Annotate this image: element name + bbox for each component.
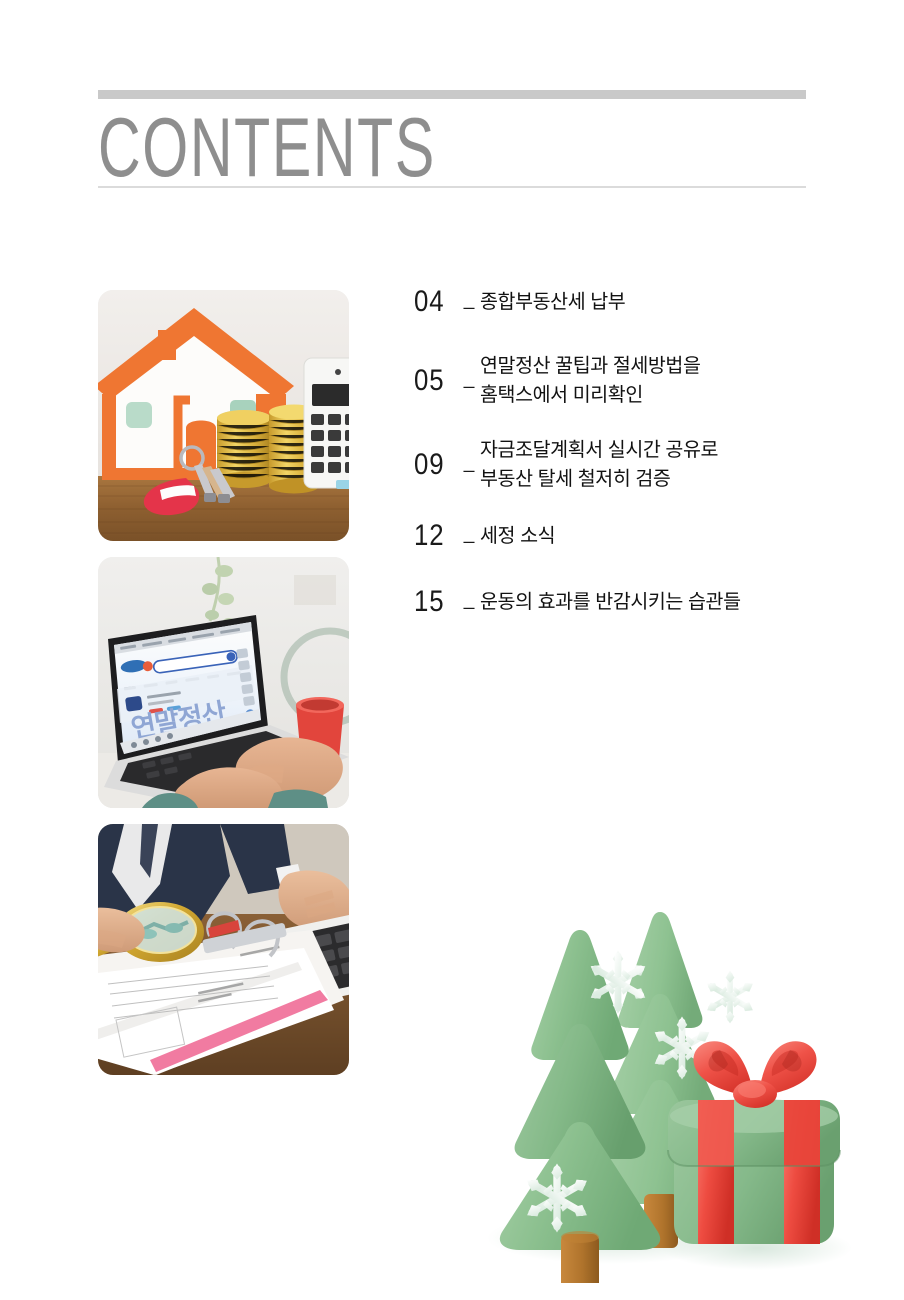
toc-separator: _ bbox=[458, 369, 480, 394]
toc-page-number: 15 bbox=[414, 586, 452, 618]
toc-page-number: 12 bbox=[414, 520, 452, 552]
toc-separator: _ bbox=[458, 524, 480, 549]
toc-separator: _ bbox=[458, 290, 480, 315]
header-rule-bottom bbox=[98, 186, 806, 188]
table-of-contents: 04 _ 종합부동산세 납부 05 _ 연말정산 꿀팁과 절세방법을 홈택스에서… bbox=[414, 286, 874, 652]
header-rule-top bbox=[98, 90, 806, 99]
thumbnail-laptop-year-end-tax[interactable]: 연말정산 bbox=[98, 557, 349, 808]
toc-page-number: 09 bbox=[414, 449, 452, 481]
toc-entry[interactable]: 04 _ 종합부동산세 납부 bbox=[414, 286, 874, 318]
toc-separator: _ bbox=[458, 590, 480, 615]
toc-entry[interactable]: 12 _ 세정 소식 bbox=[414, 520, 874, 552]
toc-page-number: 05 bbox=[414, 365, 452, 397]
toc-entry-title: 종합부동산세 납부 bbox=[480, 288, 625, 317]
thumbnail-house-coins-calculator[interactable] bbox=[98, 290, 349, 541]
page-header: CONTENTS bbox=[98, 90, 806, 179]
toc-entry-title: 연말정산 꿀팁과 절세방법을 홈택스에서 미리확인 bbox=[480, 352, 701, 410]
laptop-year-end-tax-image: 연말정산 bbox=[98, 557, 349, 808]
toc-entry-title: 자금조달계획서 실시간 공유로 부동산 탈세 철저히 검증 bbox=[480, 436, 718, 494]
toc-page-number: 04 bbox=[414, 286, 452, 318]
christmas-illustration bbox=[462, 898, 862, 1283]
documents-magnifier-image bbox=[98, 824, 349, 1075]
thumbnail-documents-magnifier[interactable] bbox=[98, 824, 349, 1075]
toc-entry[interactable]: 09 _ 자금조달계획서 실시간 공유로 부동산 탈세 철저히 검증 bbox=[414, 436, 874, 494]
christmas-trees-and-gift-icon bbox=[462, 898, 862, 1283]
toc-entry[interactable]: 15 _ 운동의 효과를 반감시키는 습관들 bbox=[414, 586, 874, 618]
page-title: CONTENTS bbox=[98, 105, 679, 191]
toc-separator: _ bbox=[458, 453, 480, 478]
toc-entry-title: 운동의 효과를 반감시키는 습관들 bbox=[480, 588, 741, 617]
toc-entry[interactable]: 05 _ 연말정산 꿀팁과 절세방법을 홈택스에서 미리확인 bbox=[414, 352, 874, 410]
house-coins-calculator-image bbox=[98, 290, 349, 541]
toc-entry-title: 세정 소식 bbox=[480, 522, 555, 551]
